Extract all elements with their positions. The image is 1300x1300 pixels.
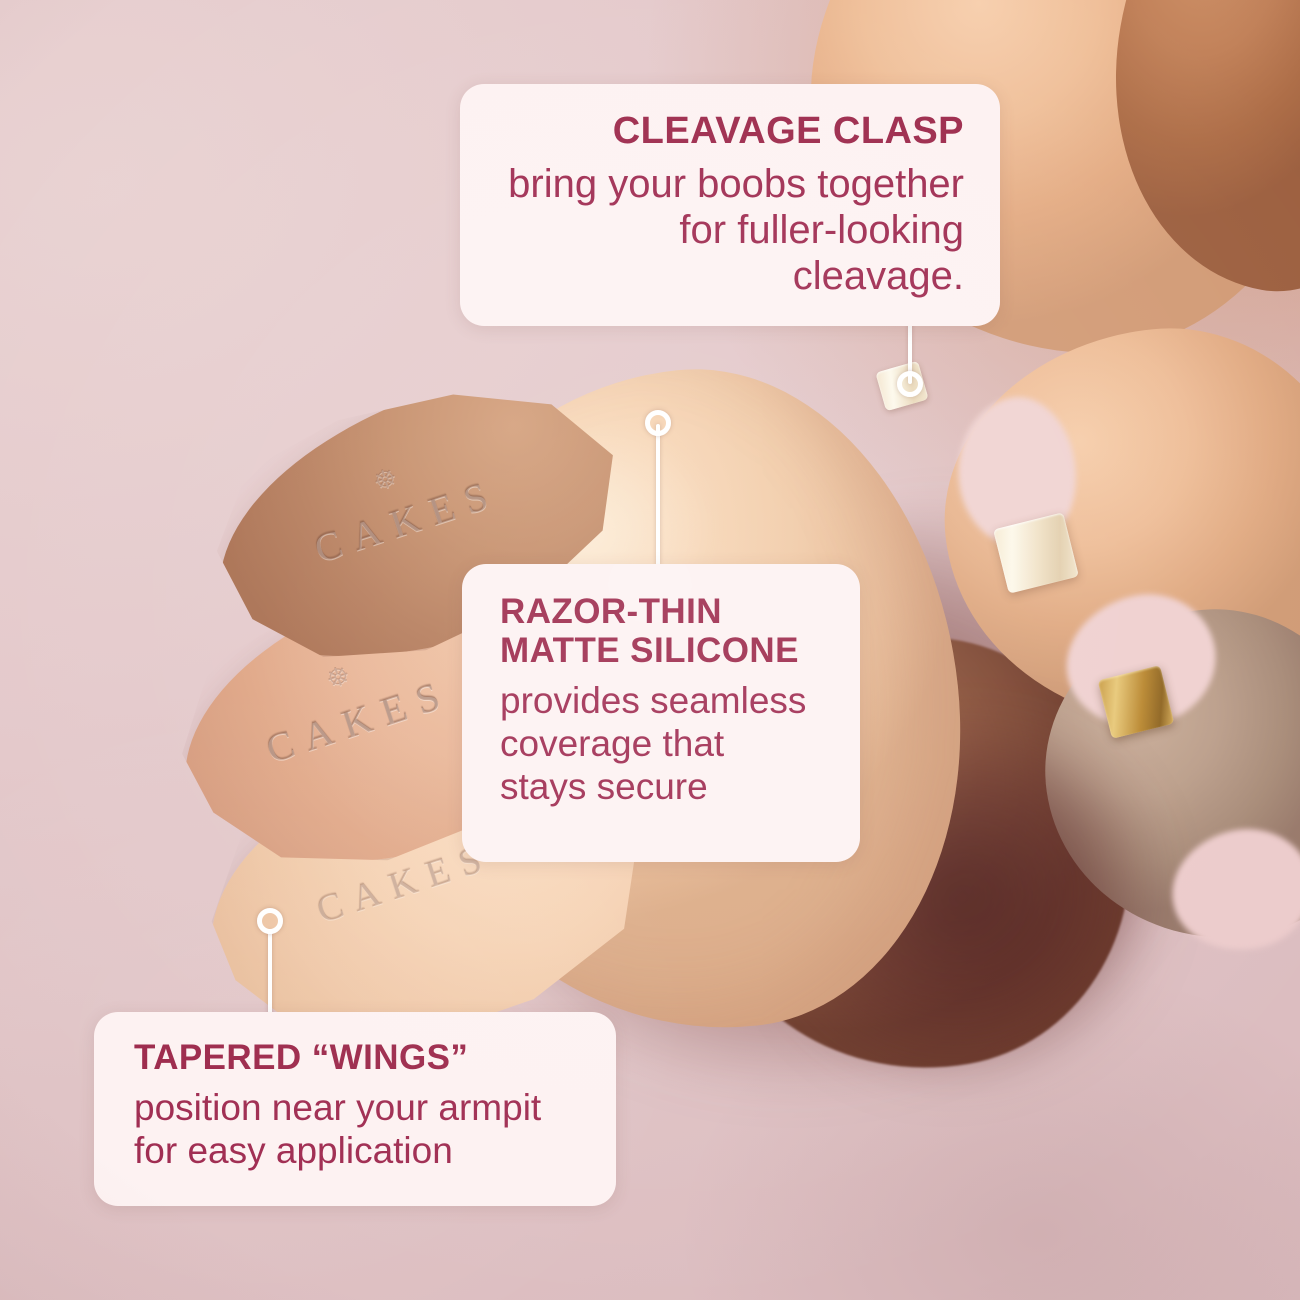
vignette-overlay	[0, 0, 1300, 1300]
infographic-stage: ☸ CAKES ☸ CAKES ☸ CAKES CLEAVAGE CLASP b…	[0, 0, 1300, 1300]
